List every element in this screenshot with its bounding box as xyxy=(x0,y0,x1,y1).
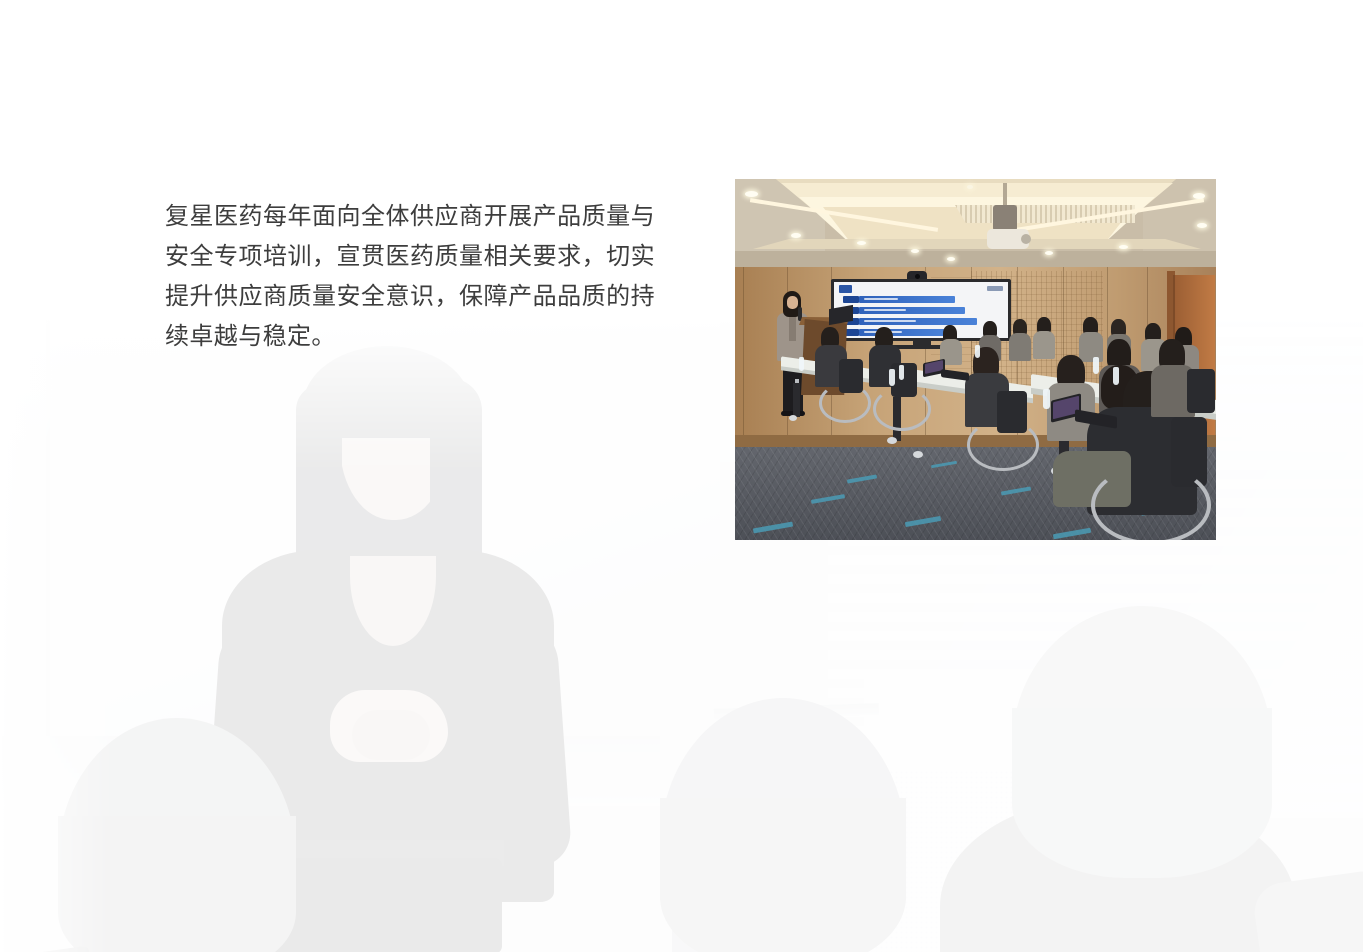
background-speaker-face xyxy=(340,370,448,520)
presenter-lapel xyxy=(789,315,796,341)
chair-frame xyxy=(819,383,871,423)
projector-mount xyxy=(993,205,1017,231)
background-audience-hair-2 xyxy=(660,798,906,952)
water-bottle xyxy=(975,345,980,358)
background-speaker-legs xyxy=(272,858,502,952)
table-caster xyxy=(789,415,797,421)
chair-frame xyxy=(967,419,1039,471)
downlight-icon xyxy=(1119,245,1128,249)
downlight-icon xyxy=(857,241,866,245)
background-wall-lower xyxy=(0,736,660,806)
background-audience-head-1 xyxy=(58,718,296,952)
attendee xyxy=(1033,331,1055,359)
downlight-icon xyxy=(911,249,919,253)
wall-seam xyxy=(743,267,744,449)
slide-bar-tag xyxy=(843,296,859,303)
water-bottle xyxy=(799,357,804,371)
background-audience-head-3 xyxy=(1012,606,1272,856)
water-bottle xyxy=(1093,357,1099,374)
background-panel xyxy=(864,674,1080,952)
attendee xyxy=(1009,333,1031,361)
ceiling-band xyxy=(753,239,1201,249)
downlight-icon xyxy=(967,185,973,189)
downlight-icon xyxy=(791,233,801,238)
background-stand xyxy=(23,946,91,952)
slide-bar-text xyxy=(864,320,916,322)
table-post xyxy=(793,383,800,417)
downlight-icon xyxy=(1193,193,1205,199)
presenter-face xyxy=(787,296,798,309)
background-speaker-arm-left xyxy=(204,615,319,871)
background-audience-head-2 xyxy=(660,698,906,952)
background-speaker-hands xyxy=(330,690,448,762)
background-speaker-body xyxy=(222,550,554,902)
water-bottle xyxy=(899,365,904,380)
background-speaker-hair-right xyxy=(430,378,482,598)
downlight-icon xyxy=(1045,251,1053,255)
attendee xyxy=(1079,332,1103,362)
background-audience-hair-1 xyxy=(58,816,296,952)
projector-lens-icon xyxy=(1021,234,1031,244)
slide-bar-text xyxy=(864,309,906,311)
background-laptop xyxy=(672,872,802,952)
training-photo xyxy=(735,179,1216,540)
downlight-icon xyxy=(745,191,758,197)
background-speaker-hair xyxy=(303,346,471,614)
slide-corner-mark xyxy=(987,286,1003,291)
background-speaker-hands-detail xyxy=(352,710,430,760)
chair-frame-foreground xyxy=(1091,465,1211,540)
background-wall xyxy=(0,318,720,788)
slide-bar-text xyxy=(864,298,898,300)
background-panel-texture xyxy=(864,770,1080,952)
background-rail xyxy=(714,703,879,721)
slide-logo xyxy=(839,285,852,293)
chair-frame xyxy=(873,387,931,431)
background-wall-edge xyxy=(46,318,50,748)
background-fade-left xyxy=(0,318,110,952)
page-root: 复星医药每年面向全体供应商开展产品质量与安全专项培训，宣贯医药质量相关要求，切实… xyxy=(0,0,1363,952)
background-chair xyxy=(1251,870,1363,952)
table-caster xyxy=(887,437,897,444)
chair xyxy=(1187,369,1215,413)
background-audience-hair-3 xyxy=(1012,708,1272,878)
background-speaker-arm-right xyxy=(457,615,572,871)
background-speaker-hair-front xyxy=(303,346,471,438)
background-audience-shoulders-3 xyxy=(940,796,1296,952)
table-caster xyxy=(913,451,923,458)
downlight-icon xyxy=(947,257,955,261)
water-bottle xyxy=(1113,367,1119,385)
body-paragraph: 复星医药每年面向全体供应商开展产品质量与安全专项培训，宣贯医药质量相关要求，切实… xyxy=(165,196,655,356)
water-bottle xyxy=(889,369,895,386)
downlight-icon xyxy=(1197,223,1207,228)
water-bottle xyxy=(1043,389,1050,409)
background-speaker-neckline xyxy=(350,556,436,646)
background-speaker-hair-left xyxy=(296,384,342,592)
background-speaker-waist xyxy=(280,840,504,866)
